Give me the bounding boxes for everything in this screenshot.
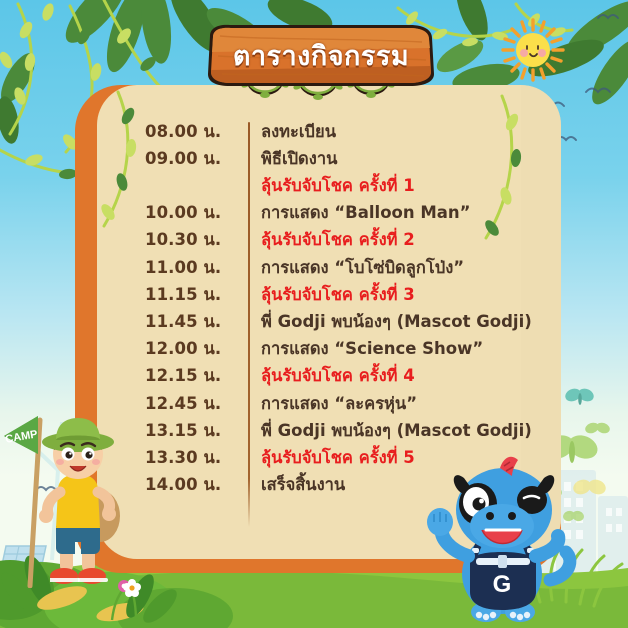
schedule-row: 08.00 น.ลงทะเบียน bbox=[75, 118, 561, 145]
row-time: 10.30 น. bbox=[75, 227, 241, 253]
camp-flag: CAMP bbox=[4, 416, 38, 454]
row-activity: การแสดง “Science Show” bbox=[241, 336, 483, 362]
row-activity: ลุ้นรับจับโชค ครั้งที่ 4 bbox=[241, 363, 415, 389]
row-activity: พี่ Godji พบน้องๆ (Mascot Godji) bbox=[241, 309, 532, 335]
row-activity: ลุ้นรับจับโชค ครั้งที่ 5 bbox=[241, 445, 415, 471]
title-sign: ตารางกิจกรรม bbox=[196, 22, 446, 100]
row-activity: ลุ้นรับจับโชค ครั้งที่ 3 bbox=[241, 282, 415, 308]
schedule-row: 11.00 น.การแสดง “โบโซ่บิดลูกโป่ง” bbox=[75, 254, 561, 281]
shirt bbox=[56, 474, 100, 528]
row-activity: พิธีเปิดงาน bbox=[241, 146, 337, 172]
right-arm bbox=[536, 536, 558, 556]
row-time: 12.15 น. bbox=[75, 363, 241, 389]
shoes-icon bbox=[50, 568, 108, 584]
schedule-row: 12.45 น.การแสดง “ละครหุ่น” bbox=[75, 390, 561, 417]
row-time: 08.00 น. bbox=[75, 119, 241, 145]
scout-boy-character: CAMP bbox=[2, 398, 142, 588]
row-time: 10.00 น. bbox=[75, 200, 241, 226]
row-activity: การแสดง “โบโซ่บิดลูกโป่ง” bbox=[241, 255, 464, 281]
row-time: 11.00 น. bbox=[75, 255, 241, 281]
row-activity: ลุ้นรับจับโชค ครั้งที่ 1 bbox=[241, 173, 415, 199]
schedule-row: 10.30 น.ลุ้นรับจับโชค ครั้งที่ 2 bbox=[75, 227, 561, 254]
schedule-row: 10.00 น.การแสดง “Balloon Man” bbox=[75, 200, 561, 227]
schedule-row: 11.45 น.พี่ Godji พบน้องๆ (Mascot Godji) bbox=[75, 308, 561, 335]
row-time: 11.15 น. bbox=[75, 282, 241, 308]
schedule-row: 09.00 น.พิธีเปิดงาน bbox=[75, 145, 561, 172]
row-activity: ลุ้นรับจับโชค ครั้งที่ 2 bbox=[241, 227, 415, 253]
head bbox=[454, 457, 555, 552]
row-time: 11.45 น. bbox=[75, 309, 241, 335]
waving-hand-icon bbox=[427, 508, 453, 536]
schedule-row: 13.15 น.พี่ Godji พบน้องๆ (Mascot Godji) bbox=[75, 417, 561, 444]
row-activity: การแสดง “ละครหุ่น” bbox=[241, 391, 417, 417]
row-activity: เสร็จสิ้นงาน bbox=[241, 472, 345, 498]
row-activity: การแสดง “Balloon Man” bbox=[241, 200, 471, 226]
poster-canvas: ตารางกิจกรรม 08.00 น.ลงทะเบียน09.00 น.พิ… bbox=[0, 0, 628, 628]
head bbox=[42, 418, 114, 479]
schedule-row: ลุ้นรับจับโชค ครั้งที่ 1 bbox=[75, 172, 561, 199]
row-activity: พี่ Godji พบน้องๆ (Mascot Godji) bbox=[241, 418, 532, 444]
schedule-row: 12.15 น.ลุ้นรับจับโชค ครั้งที่ 4 bbox=[75, 363, 561, 390]
row-time: 12.00 น. bbox=[75, 336, 241, 362]
schedule-row: 11.15 น.ลุ้นรับจับโชค ครั้งที่ 3 bbox=[75, 281, 561, 308]
mascot-logo: G bbox=[493, 571, 512, 598]
hat-icon bbox=[42, 418, 114, 452]
page-title: ตารางกิจกรรม bbox=[233, 34, 409, 77]
godji-mascot: G bbox=[424, 452, 594, 628]
row-activity: ลงทะเบียน bbox=[241, 119, 336, 145]
schedule-row: 12.00 น.การแสดง “Science Show” bbox=[75, 336, 561, 363]
row-time: 09.00 น. bbox=[75, 146, 241, 172]
shorts bbox=[56, 526, 100, 554]
